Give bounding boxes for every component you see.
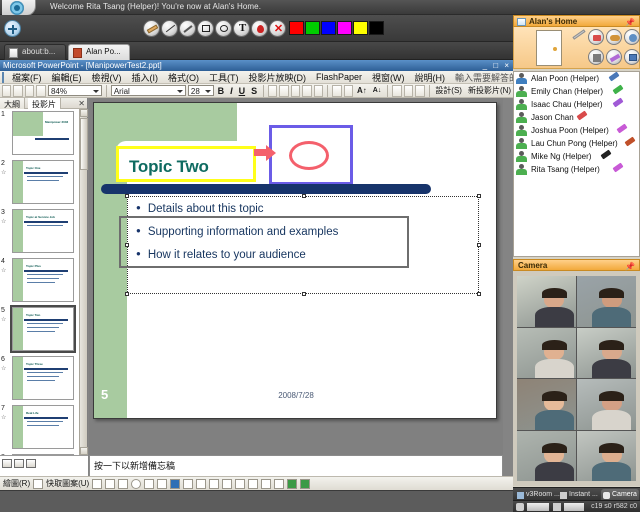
thumbnail-row[interactable]: 2☆Topic One xyxy=(0,158,80,207)
webcam-feed-1[interactable] xyxy=(517,276,576,327)
room-title: Alan's Home xyxy=(529,17,577,26)
webcam-feed-4[interactable] xyxy=(577,328,636,379)
slide-thumbnail-pane: 大綱 投影片 ✕ 1Manipower 20032☆Topic One3☆Top… xyxy=(0,98,88,455)
menu-item-insert[interactable]: 插入(I) xyxy=(127,71,164,84)
slide-sorter-icon[interactable] xyxy=(14,459,24,468)
powerpoint-formatting-toolbar: 84% Arial 28 B I U S A↑ A↓ 設計(S) 新投 xyxy=(0,84,513,98)
avatar xyxy=(516,86,527,97)
diagram-icon[interactable] xyxy=(170,479,180,489)
thumbnail-body-line xyxy=(27,380,55,381)
powerpoint-title-bar: Microsoft PowerPoint - [ManipowerTest2.p… xyxy=(0,60,513,71)
increase-font-icon[interactable]: A↑ xyxy=(355,86,369,95)
thumbnail-number: 5 xyxy=(1,307,5,314)
underline-button[interactable]: U xyxy=(237,86,248,96)
participant-name: Joshua Poon (Helper) xyxy=(531,126,609,135)
bullets-icon[interactable] xyxy=(332,85,341,97)
connection-status: c19 s0 r582 c0 xyxy=(591,503,637,510)
document-icon xyxy=(2,72,4,83)
arrow-style-icon[interactable] xyxy=(274,479,284,489)
thumbnail-body-line xyxy=(27,274,63,275)
3d-icon[interactable] xyxy=(300,479,310,489)
font-color-picker-icon[interactable] xyxy=(235,479,245,489)
avatar xyxy=(516,151,527,162)
participant-list[interactable]: Alan Poon (Helper)Emily Chan (Helper)Isa… xyxy=(513,71,640,257)
thumbnail-body-line xyxy=(27,278,59,279)
room-icon xyxy=(517,492,524,499)
participant-name: Emily Chan (Helper) xyxy=(531,87,603,96)
participant-row[interactable]: Lau Chun Pong (Helper) xyxy=(514,137,639,150)
volume-level-meter xyxy=(564,503,584,511)
thumbnail-title: Topic One xyxy=(26,166,40,170)
font-size-combo[interactable]: 28 xyxy=(188,85,214,96)
menu-item-edit[interactable]: 編輯(E) xyxy=(47,71,87,84)
numbering-icon[interactable] xyxy=(314,85,323,97)
thumbnail-body-line xyxy=(27,376,59,377)
thumbnail-number: 6 xyxy=(1,356,5,363)
slide-thumbnail[interactable]: Topic at Service Job xyxy=(12,209,74,253)
desktop-bottom-area xyxy=(0,490,513,512)
thumbnail-row[interactable]: 4☆Topic Plus xyxy=(0,256,80,305)
print-icon[interactable] xyxy=(25,85,34,97)
participant-name: Alan Poon (Helper) xyxy=(531,74,599,83)
thumbnail-deco xyxy=(13,112,43,136)
pin-icon[interactable]: 📌 xyxy=(625,18,635,27)
slide-thumbnail[interactable]: Manipower 2003 xyxy=(12,111,74,155)
new-slide-button[interactable]: 新投影片(N) xyxy=(466,85,513,96)
thumbnail-title: Topic Two xyxy=(26,313,40,317)
line-icon[interactable] xyxy=(92,479,102,489)
webcam-feed-8[interactable] xyxy=(577,431,636,482)
thumbnail-body-line xyxy=(27,176,63,177)
avatar xyxy=(516,112,527,123)
browser-tab-label: about:b... xyxy=(22,47,55,56)
camera-header: Camera 📌 xyxy=(513,259,640,271)
textbox-icon[interactable] xyxy=(144,479,154,489)
participant-name: Mike Ng (Helper) xyxy=(531,152,591,161)
thumbnail-bar xyxy=(24,270,68,272)
marker-icon xyxy=(625,137,636,147)
webcam-feed-3[interactable] xyxy=(517,328,576,379)
avatar xyxy=(516,164,527,175)
thumbnail-body-line xyxy=(27,331,55,332)
menu-item-file[interactable]: 檔案(F) xyxy=(7,71,47,84)
door-icon[interactable] xyxy=(536,30,562,66)
align-center-icon[interactable] xyxy=(279,85,288,97)
dice-button[interactable] xyxy=(588,49,604,65)
color-swatch-magenta[interactable] xyxy=(337,21,352,35)
menu-item-help[interactable]: 說明(H) xyxy=(410,71,451,84)
panel-tab-label: v3Room ... xyxy=(526,491,560,498)
system-tray: c19 s0 r582 c0 xyxy=(513,500,640,512)
clipart-icon[interactable] xyxy=(183,479,193,489)
menu-item-tools[interactable]: 工具(T) xyxy=(204,71,244,84)
thumbnail-deco xyxy=(13,259,23,302)
thumbnail-transition-icon: ☆ xyxy=(1,414,6,421)
menu-item-view[interactable]: 檢視(V) xyxy=(87,71,127,84)
thumbnail-pane-tabs: 大綱 投影片 ✕ xyxy=(0,98,87,109)
app-title-bar: Welcome Rita Tsang (Helper)! You're now … xyxy=(0,0,640,15)
shadow-icon[interactable] xyxy=(287,479,297,489)
slide-bullet-1: Details about this topic xyxy=(136,203,264,215)
tab-outline[interactable]: 大綱 xyxy=(0,98,25,109)
color-swatch-black[interactable] xyxy=(369,21,384,35)
slide-thumbnail[interactable]: Topic Plus xyxy=(12,258,74,302)
mic-level-meter xyxy=(527,503,549,511)
thumbnail-row[interactable]: 6☆Topic Three xyxy=(0,354,80,403)
thumbnail-deco xyxy=(13,161,23,204)
menu-item-flashpaper[interactable]: FlashPaper xyxy=(311,72,367,82)
pin-icon[interactable]: 📌 xyxy=(625,262,635,271)
thumbnail-row[interactable]: 1Manipower 2003 xyxy=(0,109,80,158)
marker-icon xyxy=(616,124,627,134)
home-icon xyxy=(517,18,526,26)
font-name-combo[interactable]: Arial xyxy=(111,85,186,96)
decrease-font-icon[interactable]: A↓ xyxy=(371,87,384,94)
new-file-icon[interactable] xyxy=(2,85,11,97)
thumbnail-body-line xyxy=(27,225,63,226)
panel-tab-bar: v3Room ... Instant ... Camera xyxy=(513,487,640,500)
annotation-red-ellipse[interactable] xyxy=(289,141,329,170)
thumbnail-transition-icon: ☆ xyxy=(1,267,6,274)
thumbnail-number: 1 xyxy=(1,111,5,118)
camera-grid[interactable] xyxy=(517,276,636,481)
welcome-message: Welcome Rita Tsang (Helper)! You're now … xyxy=(50,2,261,11)
thumbnail-transition-icon: ☆ xyxy=(1,316,6,323)
line-spacing-icon[interactable] xyxy=(302,85,311,97)
draw-menu-button[interactable]: 繪圖(R) xyxy=(3,478,30,489)
font-color-icon[interactable] xyxy=(415,85,424,97)
thumbnail-transition-icon: ☆ xyxy=(1,218,6,225)
align-right-icon[interactable] xyxy=(291,85,300,97)
rectangle-tool-icon[interactable] xyxy=(197,20,214,37)
panel-tab-label: Camera xyxy=(612,491,637,498)
align-left-icon[interactable] xyxy=(268,85,277,97)
rectangle-icon[interactable] xyxy=(118,479,128,489)
ordered-list-icon[interactable] xyxy=(344,85,353,97)
thumbnail-title: Topic Three xyxy=(26,362,43,366)
participant-name: Lau Chun Pong (Helper) xyxy=(531,139,618,148)
marker-icon xyxy=(612,98,623,108)
fill-tool-icon[interactable] xyxy=(251,20,268,37)
slide-divider-bar xyxy=(101,184,431,194)
webcam-feed-7[interactable] xyxy=(517,431,576,482)
thumbnail-number: 7 xyxy=(1,405,5,412)
marker-icon xyxy=(612,85,623,95)
thumbnail-number: 2 xyxy=(1,160,5,167)
browser-tab-powerpoint[interactable]: Alan Po... xyxy=(68,44,130,60)
powerpoint-window: Microsoft PowerPoint - [ManipowerTest2.p… xyxy=(0,60,513,490)
thumbnail-title: Topic Plus xyxy=(26,264,41,268)
thumbnail-body-line xyxy=(27,327,59,328)
thumbnail-deco xyxy=(13,308,23,351)
panel-tab-label: Instant ... xyxy=(569,491,598,498)
thumbnail-title: Real Life xyxy=(26,411,39,415)
mic-icon[interactable] xyxy=(516,503,524,511)
autoshapes-button[interactable]: 快取圖案(U) xyxy=(46,478,89,489)
thumbnail-deco xyxy=(13,357,23,400)
marker-icon xyxy=(576,111,587,121)
drawing-toolbar: 繪圖(R) 快取圖案(U) xyxy=(0,476,513,490)
thumbnail-transition-icon: ☆ xyxy=(1,169,6,176)
bold-button[interactable]: B xyxy=(216,86,227,96)
webcam-feed-6[interactable] xyxy=(577,379,636,430)
slide-thumbnail[interactable]: Topic Two xyxy=(12,307,74,351)
shadow-button[interactable]: S xyxy=(249,86,259,96)
thumbnail-row[interactable]: 7☆Real Life xyxy=(0,403,80,452)
open-file-icon[interactable] xyxy=(13,85,22,97)
camera-title: Camera xyxy=(518,261,547,270)
volume-icon[interactable] xyxy=(553,503,561,511)
thumbnail-transition-icon: ☆ xyxy=(1,365,6,372)
powerpoint-workspace: 大綱 投影片 ✕ 1Manipower 20032☆Topic One3☆Top… xyxy=(0,98,513,490)
thumbnail-row[interactable]: 5☆Topic Two xyxy=(0,305,80,354)
participant-row[interactable]: Emily Chan (Helper) xyxy=(514,85,639,98)
annotation-gray-frame[interactable] xyxy=(119,216,409,268)
slide-thumbnail[interactable]: Topic Three xyxy=(12,356,74,400)
color-swatch-yellow[interactable] xyxy=(353,21,368,35)
line-style-icon[interactable] xyxy=(248,479,258,489)
webcam-feed-2[interactable] xyxy=(577,276,636,327)
zoom-combo[interactable]: 84% xyxy=(48,85,102,96)
participant-name: Jason Chan xyxy=(531,113,574,122)
scroll-down-icon[interactable] xyxy=(80,447,88,455)
video-call-button[interactable] xyxy=(588,29,604,45)
thumbnail-number: 3 xyxy=(1,209,5,216)
thumbnail-body-line xyxy=(27,425,59,426)
wordart-icon[interactable] xyxy=(157,479,167,489)
ellipse-tool-icon[interactable] xyxy=(215,20,232,37)
marker-icon xyxy=(600,150,611,160)
globe-button[interactable] xyxy=(624,29,640,45)
powerpoint-title-text: Microsoft PowerPoint - [ManipowerTest2.p… xyxy=(3,61,162,70)
thumbnail-bar xyxy=(35,138,69,140)
flower-logo-icon xyxy=(2,0,36,16)
slide-date: 2008/7/28 xyxy=(94,391,497,400)
thumbnail-row[interactable]: 3☆Topic at Service Job xyxy=(0,207,80,256)
participant-row[interactable]: Jason Chan xyxy=(514,111,639,124)
room-header: Alan's Home 📌 xyxy=(513,15,640,27)
scroll-up-icon[interactable] xyxy=(80,109,88,117)
text-tool-icon[interactable]: T xyxy=(233,20,250,37)
promote-icon[interactable] xyxy=(392,85,401,97)
thumbnail-body-line xyxy=(27,180,59,181)
design-button[interactable]: 設計(S) xyxy=(433,85,464,96)
marker-icon xyxy=(612,163,623,173)
thumbnail-body-line xyxy=(27,372,63,373)
select-objects-icon[interactable] xyxy=(33,479,43,489)
slide-canvas-area: Topic Two xyxy=(89,98,503,455)
plus-icon[interactable] xyxy=(4,20,21,37)
thumbnail-number: 4 xyxy=(1,258,5,265)
participant-row[interactable]: Rita Tsang (Helper) xyxy=(514,163,639,176)
avatar xyxy=(516,73,527,84)
participant-name: Isaac Chau (Helper) xyxy=(531,100,603,109)
picture-icon[interactable] xyxy=(196,479,206,489)
powerpoint-icon xyxy=(73,48,82,58)
color-swatch-blue[interactable] xyxy=(321,21,336,35)
color-swatch-green[interactable] xyxy=(305,21,320,35)
eraser-button[interactable] xyxy=(606,49,622,65)
participant-row[interactable]: Alan Poon (Helper) xyxy=(514,72,639,85)
arrow-icon[interactable] xyxy=(105,479,115,489)
close-icon[interactable]: ✕ xyxy=(78,99,85,108)
page-icon xyxy=(9,48,18,58)
share-window-button[interactable] xyxy=(624,49,640,65)
window-controls[interactable]: _ □ × xyxy=(483,61,511,70)
application-root: Welcome Rita Tsang (Helper)! You're now … xyxy=(0,0,640,512)
thumbnail-title: Manipower 2003 xyxy=(45,120,68,124)
pencil-tool-icon[interactable] xyxy=(179,20,196,37)
slide-thumbnail[interactable]: Real Life xyxy=(12,405,74,449)
italic-button[interactable]: I xyxy=(228,86,235,96)
line-color-icon[interactable] xyxy=(222,479,232,489)
camera-grid-container xyxy=(513,271,640,486)
slide-title: Topic Two xyxy=(129,157,209,177)
menu-item-format[interactable]: 格式(O) xyxy=(163,71,204,84)
thumbnail-deco xyxy=(13,406,23,449)
thumbnail-body-line xyxy=(27,421,63,422)
browser-tab-bar: about:b... Alan Po... xyxy=(0,42,513,60)
avatar xyxy=(516,99,527,110)
thumbnail-bar xyxy=(24,172,68,174)
eraser-tool-icon[interactable] xyxy=(143,20,160,37)
menu-item-slideshow[interactable]: 投影片放映(D) xyxy=(244,71,312,84)
color-swatch-red[interactable] xyxy=(289,21,304,35)
slide-show-icon[interactable] xyxy=(26,459,36,468)
camera-icon xyxy=(603,492,610,499)
title-highlight-box[interactable]: Topic Two xyxy=(116,146,256,182)
thumbnail-bar xyxy=(24,319,68,321)
thumbnail-list[interactable]: 1Manipower 20032☆Topic One3☆Topic at Ser… xyxy=(0,109,80,455)
dash-style-icon[interactable] xyxy=(261,479,271,489)
avatar xyxy=(516,138,527,149)
browser-tab-about[interactable]: about:b... xyxy=(4,44,66,60)
browser-tab-label: Alan Po... xyxy=(86,47,121,56)
scroll-thumb[interactable] xyxy=(80,118,88,170)
webcam-feed-5[interactable] xyxy=(517,379,576,430)
current-slide[interactable]: Topic Two xyxy=(93,102,497,419)
clear-tool-icon[interactable]: ✕ xyxy=(269,20,286,37)
line-tool-icon[interactable] xyxy=(161,20,178,37)
room-stage xyxy=(513,27,640,69)
participant-name: Rita Tsang (Helper) xyxy=(531,165,600,174)
menu-item-window[interactable]: 視窗(W) xyxy=(367,71,410,84)
participant-row[interactable]: Joshua Poon (Helper) xyxy=(514,124,639,137)
handshake-button[interactable] xyxy=(606,29,622,45)
participant-row[interactable]: Isaac Chau (Helper) xyxy=(514,98,639,111)
collaboration-panel: Alan's Home 📌 Alan Poon (Helper)Emily Ch… xyxy=(513,15,640,487)
share-window-icon xyxy=(608,72,619,82)
thumbnail-deco xyxy=(13,210,23,253)
fill-color-icon[interactable] xyxy=(209,479,219,489)
thumbnail-body-line xyxy=(27,282,55,283)
oval-icon[interactable] xyxy=(131,479,141,489)
thumbnail-scrollbar[interactable] xyxy=(79,109,87,455)
thumbnail-body-line xyxy=(27,323,63,324)
avatar xyxy=(516,125,527,136)
notes-placeholder: 按一下以新增備忘稿 xyxy=(94,459,175,472)
powerpoint-menu-bar: 檔案(F) 編輯(E) 檢視(V) 插入(I) 格式(O) 工具(T) 投影片放… xyxy=(0,71,513,84)
thumbnail-bar xyxy=(24,221,68,223)
preview-icon[interactable] xyxy=(36,85,45,97)
demote-icon[interactable] xyxy=(404,85,413,97)
thumbnail-title: Topic at Service Job xyxy=(26,215,55,219)
thumbnail-bar xyxy=(24,417,68,419)
slide-thumbnail[interactable]: Topic One xyxy=(12,160,74,204)
thumbnail-bar xyxy=(24,368,68,370)
tab-slides[interactable]: 投影片 xyxy=(28,98,61,109)
pencil-icon xyxy=(572,29,585,39)
normal-view-icon[interactable] xyxy=(2,459,12,468)
chat-icon xyxy=(560,492,567,499)
participant-row[interactable]: Mike Ng (Helper) xyxy=(514,150,639,163)
